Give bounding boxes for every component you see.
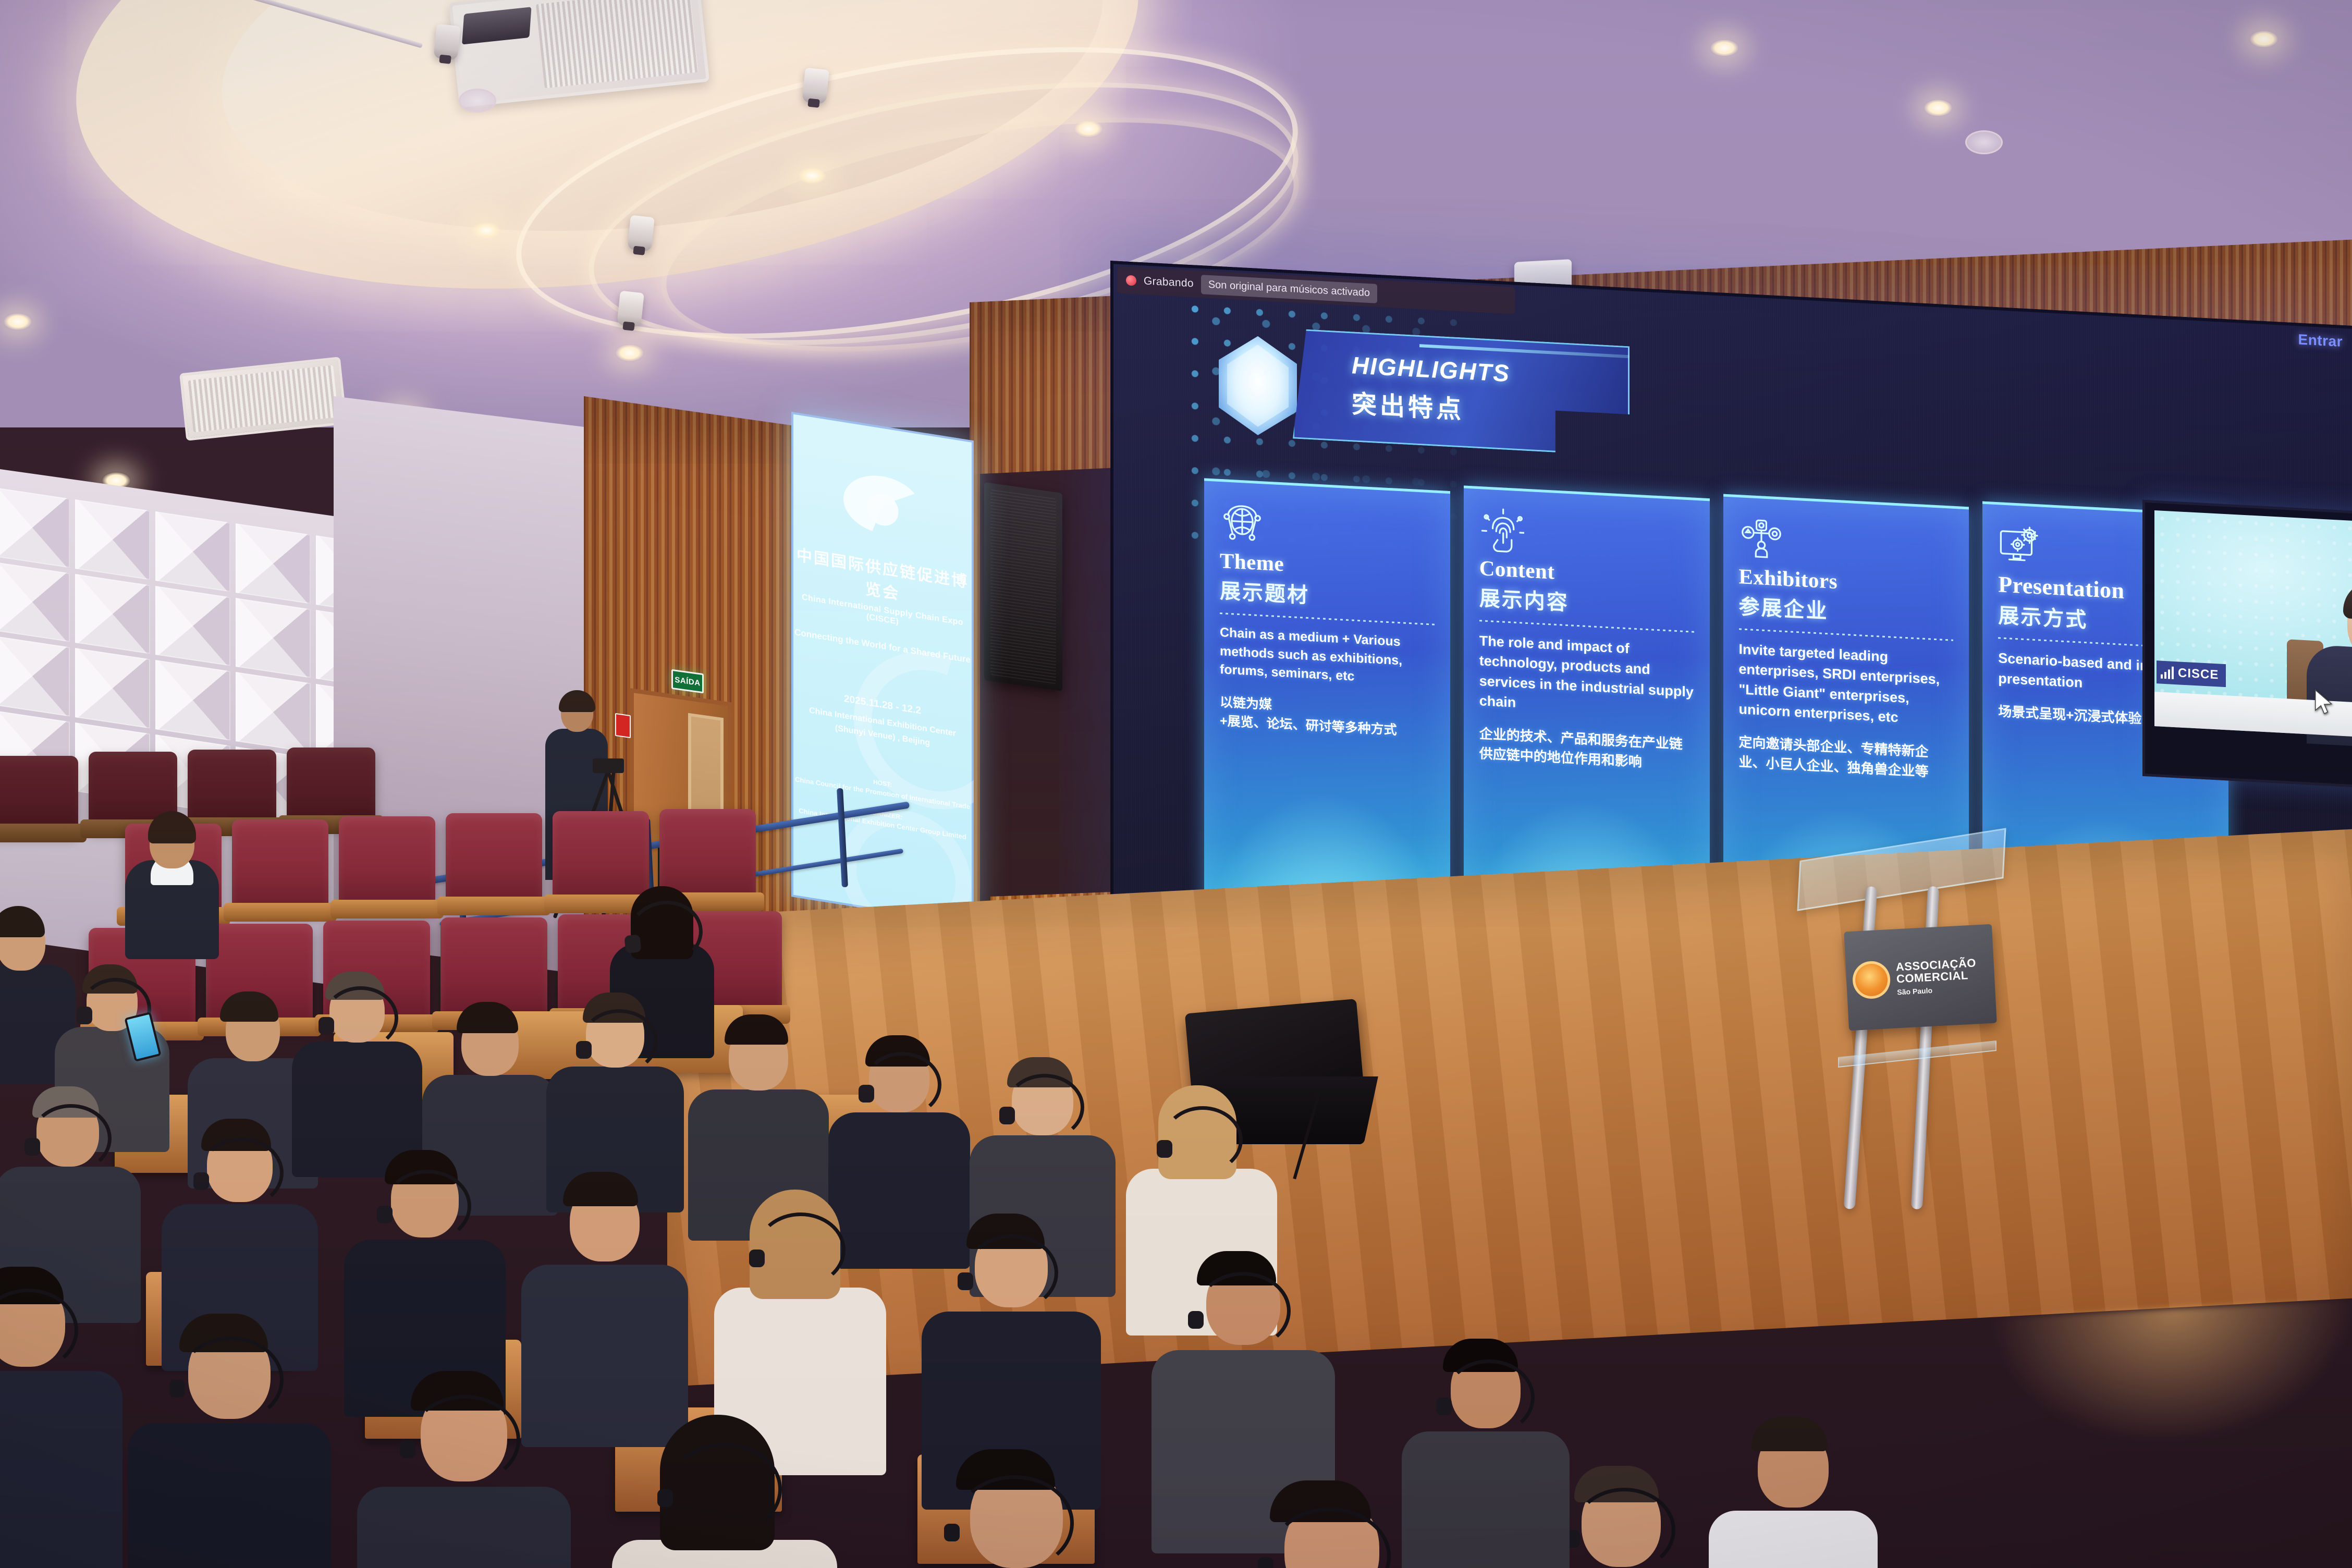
audience-member — [1407, 1334, 1564, 1568]
downlight — [1710, 39, 1739, 57]
operator-hair — [559, 690, 595, 712]
lectern-logo-plaque: ASSOCIAÇÃO COMERCIAL São Paulo — [1844, 924, 1997, 1031]
track-spotlight — [617, 291, 644, 327]
translation-headset — [955, 1475, 1074, 1568]
card-body-cn: 定向邀请头部企业、专精特新企业、小巨人企业、独角兽企业等 — [1739, 733, 1954, 783]
acoustic-panel — [236, 598, 311, 678]
auditorium-seat[interactable] — [287, 748, 375, 826]
translation-headset — [178, 1337, 284, 1423]
audience-member — [365, 1366, 563, 1568]
translation-headset — [410, 1395, 520, 1485]
translation-headset — [667, 1443, 782, 1536]
card-divider — [1220, 612, 1435, 626]
translation-headset — [30, 1104, 112, 1173]
card-divider — [1479, 620, 1694, 633]
slide-title-en: HIGHLIGHTS — [1352, 351, 1510, 387]
audience-member — [136, 1308, 323, 1568]
auditorium-seat[interactable] — [0, 756, 78, 834]
cisce-emblem — [843, 470, 922, 540]
slide-title-plate: HIGHLIGHTS 突出特点 — [1293, 328, 1630, 456]
downlight — [3, 313, 32, 330]
acoustic-panel — [155, 511, 230, 592]
card-body-cn: 企业的技术、产品和服务在产业链供应链中的地位作用和影响 — [1479, 724, 1694, 775]
hair — [725, 1014, 788, 1045]
audience-member — [620, 1413, 829, 1568]
stage-floor-light-pool — [1991, 1299, 2352, 1454]
audience-member — [719, 1189, 881, 1439]
line-array-speaker — [984, 482, 1062, 691]
original-sound-label[interactable]: Son original para músicos activado — [1201, 275, 1377, 303]
translation-headset — [581, 1009, 658, 1074]
broadcaster-logo: CISCE — [2157, 660, 2226, 687]
translation-headset — [323, 986, 398, 1050]
card-divider — [1739, 628, 1954, 641]
monitor-gears-icon — [1998, 522, 2043, 570]
audience-member — [0, 1261, 115, 1553]
conference-hall-screenshot: SAÍDA 中国国际供应链促进博览会 China International S… — [0, 0, 2352, 1568]
translation-headset — [199, 1137, 284, 1208]
translation-headset — [756, 1212, 846, 1288]
fingerprint-touch-icon — [1479, 507, 1524, 554]
vent-blade — [462, 7, 531, 44]
track-spotlight — [433, 24, 461, 60]
audience-seating-area — [0, 719, 1480, 1568]
card-body-en: Chain as a medium + Various methods such… — [1220, 623, 1435, 690]
track-spotlight — [802, 68, 829, 104]
acoustic-panel — [75, 499, 150, 580]
lectern-org-line-3: São Paulo — [1897, 985, 1978, 997]
audience-member — [553, 990, 678, 1189]
audience-member — [1157, 1246, 1329, 1512]
auditorium-seat[interactable] — [339, 816, 435, 910]
auditorium-seat[interactable] — [232, 819, 328, 913]
audience-member — [907, 1444, 1126, 1568]
acsp-seal-icon — [1852, 960, 1891, 1000]
audience-member — [297, 970, 417, 1157]
audience-member — [1715, 1413, 1871, 1568]
auditorium-seat[interactable] — [553, 811, 649, 905]
translation-headset — [1005, 1074, 1084, 1141]
speaker-hair — [2343, 580, 2352, 622]
hair — [1751, 1417, 1828, 1451]
acoustic-panel — [0, 487, 70, 568]
downlight — [615, 344, 644, 362]
translation-headset — [384, 1170, 471, 1243]
hair — [563, 1172, 638, 1206]
broadcaster-logo-text: CISCE — [2178, 666, 2219, 682]
globe-shield-icon — [1220, 499, 1265, 547]
vent-grill — [188, 365, 339, 433]
hair — [148, 811, 196, 843]
audience-member — [167, 1116, 313, 1340]
acoustic-panel — [155, 586, 230, 666]
slide-title-deco-hatch — [1633, 352, 1732, 371]
lectern: ASSOCIAÇÃO COMERCIAL São Paulo — [1788, 844, 2007, 1230]
network-people-icon — [1739, 515, 1784, 562]
recording-indicator-icon — [1126, 275, 1136, 286]
translation-headset — [1162, 1106, 1243, 1174]
downlight — [798, 167, 827, 185]
acoustic-panel — [236, 523, 311, 604]
audience-member — [928, 1209, 1095, 1470]
speaker-video-thumbnail[interactable]: Mr. Long Yuexiang CISCE — [2142, 500, 2352, 796]
air-conditioning-vent-secondary — [179, 357, 347, 441]
acoustic-panel — [0, 636, 70, 716]
join-button[interactable]: Entrar — [2298, 331, 2343, 350]
translation-headset — [1196, 1272, 1291, 1350]
translation-headset — [863, 1052, 941, 1118]
translation-headset — [965, 1234, 1058, 1312]
hair — [0, 906, 45, 937]
downlight — [2249, 30, 2278, 48]
acoustic-panel — [75, 648, 150, 728]
acoustic-panel — [75, 574, 150, 654]
audience-member — [349, 1147, 500, 1381]
acoustic-panel — [0, 562, 70, 642]
downlight — [472, 222, 501, 239]
downlight-housing — [1965, 130, 2003, 154]
downlight — [1074, 120, 1103, 138]
auditorium-seat[interactable] — [446, 813, 542, 907]
slide-title-cn: 突出特点 — [1352, 383, 1464, 425]
recording-label: Grabando — [1144, 275, 1194, 290]
downlight — [1924, 99, 1953, 117]
translation-headset — [1444, 1359, 1535, 1436]
bar-chart-icon — [2161, 666, 2174, 679]
card-body-en: Invite targeted leading enterprises, SRD… — [1739, 639, 1954, 730]
track-spotlight — [627, 215, 655, 252]
translation-headset — [0, 1289, 78, 1372]
hair — [457, 1002, 518, 1033]
downlight-housing — [459, 89, 496, 113]
hair — [220, 991, 278, 1022]
audience-member — [693, 1011, 824, 1215]
vent-grill — [536, 0, 698, 88]
translation-headset — [1573, 1488, 1675, 1568]
card-body-en: The role and impact of technology, produ… — [1479, 631, 1694, 722]
audience-member — [125, 813, 219, 949]
